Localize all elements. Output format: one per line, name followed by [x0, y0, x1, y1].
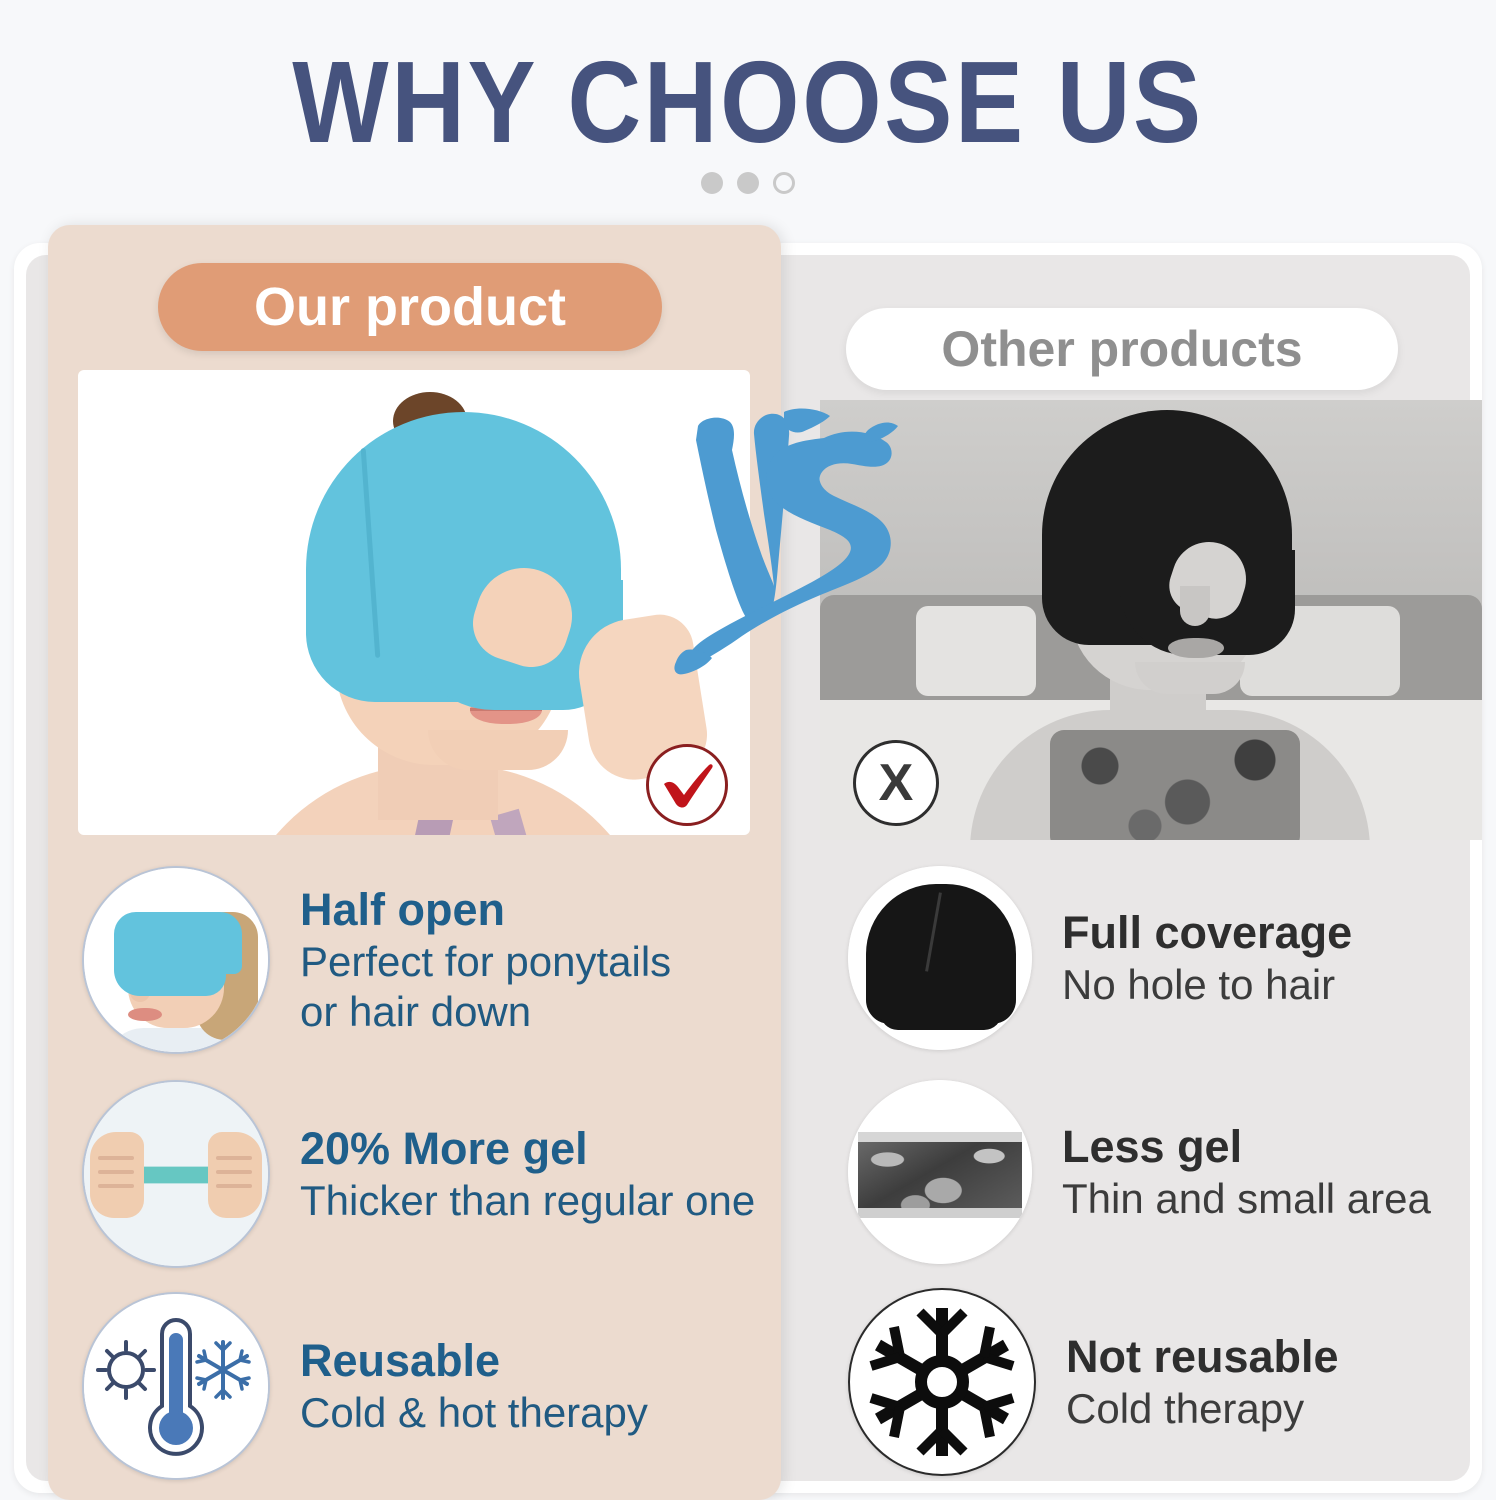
page-title: WHY CHOOSE US — [90, 44, 1406, 160]
carousel-dot-3[interactable] — [773, 172, 795, 194]
carousel-dot-2[interactable] — [737, 172, 759, 194]
feature-heading: Reusable — [300, 1334, 648, 1388]
feature-description: Thin and small area — [1062, 1174, 1431, 1224]
feature-row-full-coverage: Full coverage No hole to hair — [848, 866, 1352, 1050]
carousel-dot-1[interactable] — [701, 172, 723, 194]
our-product-hero-image — [78, 370, 750, 835]
feature-heading: Half open — [300, 883, 671, 937]
x-mark-icon: X — [853, 740, 939, 826]
feature-row-reusable: Reusable Cold & hot therapy — [82, 1292, 648, 1480]
feature-description: No hole to hair — [1062, 960, 1352, 1010]
carousel-dots[interactable] — [0, 172, 1496, 194]
feature-row-not-reusable: Not reusable Cold therapy — [848, 1288, 1339, 1476]
check-mark-icon — [646, 744, 728, 826]
half-open-cap-ponytail-icon — [82, 866, 270, 1054]
black-full-coverage-cap-icon — [848, 866, 1032, 1050]
feature-description: Perfect for ponytails or hair down — [300, 937, 671, 1037]
feature-heading: Full coverage — [1062, 906, 1352, 960]
feature-description: Cold therapy — [1066, 1384, 1339, 1434]
feature-heading: Less gel — [1062, 1120, 1431, 1174]
gel-stretch-hands-icon — [82, 1080, 270, 1268]
feature-heading: Not reusable — [1066, 1330, 1339, 1384]
feature-description: Thicker than regular one — [300, 1176, 755, 1226]
feature-heading: 20% More gel — [300, 1122, 755, 1176]
feature-row-less-gel: Less gel Thin and small area — [848, 1080, 1431, 1264]
our-product-badge: Our product — [158, 263, 662, 351]
feature-row-more-gel: 20% More gel Thicker than regular one — [82, 1080, 755, 1268]
thin-ice-pack-icon — [848, 1080, 1032, 1264]
snowflake-icon — [848, 1288, 1036, 1476]
page-header: WHY CHOOSE US — [0, 0, 1496, 210]
other-products-badge: Other products — [846, 308, 1398, 390]
thermometer-sun-snowflake-icon — [82, 1292, 270, 1480]
feature-description: Cold & hot therapy — [300, 1388, 648, 1438]
feature-row-half-open: Half open Perfect for ponytails or hair … — [82, 866, 671, 1054]
